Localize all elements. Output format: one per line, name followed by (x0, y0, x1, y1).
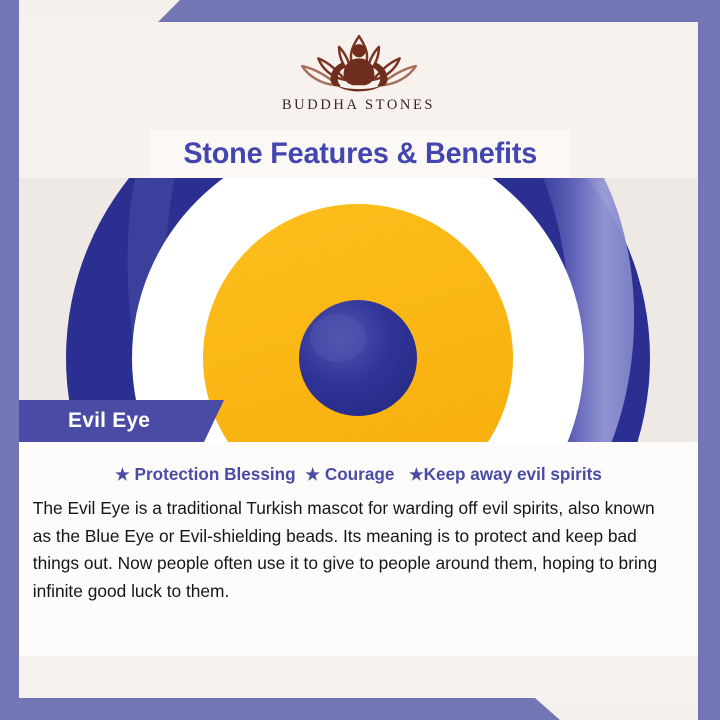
page-title: Stone Features & Benefits (183, 137, 537, 171)
description-text: The Evil Eye is a traditional Turkish ma… (19, 485, 688, 605)
benefit-item-1: Protection Blessing (135, 464, 296, 484)
star-icon-1: ★ (115, 466, 130, 484)
content-panel: ★Protection Blessing★Courage★Keep away e… (19, 442, 698, 656)
infographic-page: BUDDHA STONES Stone Features & Benefits (0, 0, 720, 720)
evil-eye-tag: Evil Eye (19, 400, 224, 442)
benefit-item-2: Courage (325, 464, 395, 484)
frame-band-left (0, 0, 19, 720)
brand-name: BUDDHA STONES (282, 97, 435, 114)
lotus-meditation-icon (279, 30, 439, 96)
page-title-card: Stone Features & Benefits (150, 130, 570, 178)
brand-header: BUDDHA STONES (19, 22, 698, 122)
frame-band-top (0, 0, 720, 22)
frame-band-bottom (0, 698, 720, 720)
frame-band-right (698, 0, 720, 720)
benefits-line: ★Protection Blessing★Courage★Keep away e… (26, 442, 691, 485)
benefit-item-3: Keep away evil spirits (424, 464, 602, 484)
evil-eye-tag-label: Evil Eye (68, 409, 150, 433)
star-icon-3: ★ (409, 466, 424, 484)
star-icon-2: ★ (305, 466, 320, 484)
